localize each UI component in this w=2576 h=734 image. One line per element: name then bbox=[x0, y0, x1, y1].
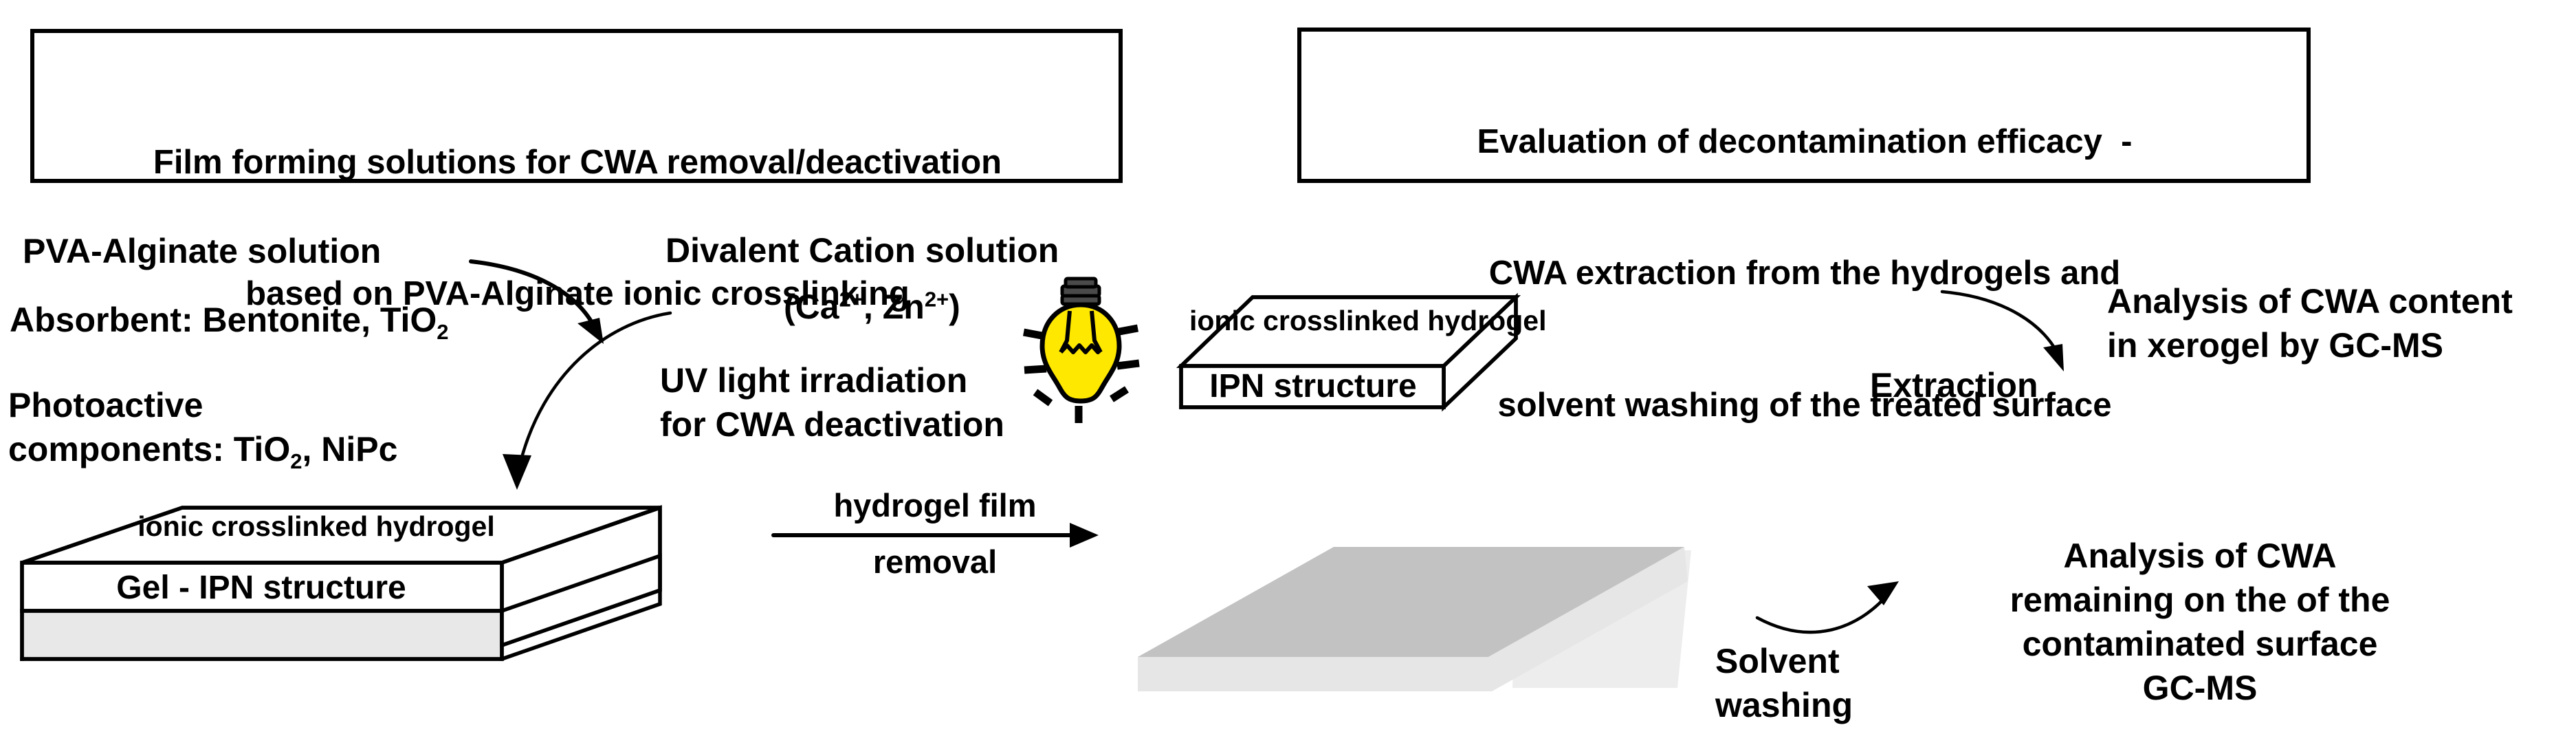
absorbent-text: Absorbent: Bentonite, TiO bbox=[10, 301, 437, 339]
photoactive-suffix: , NiPc bbox=[302, 430, 397, 468]
formula-mid: , Zn bbox=[863, 288, 925, 326]
label-uv-irradiation-line2: for CWA deactivation bbox=[660, 405, 1004, 444]
label-analysis-xerogel-line2: in xerogel by GC-MS bbox=[2107, 326, 2443, 365]
label-cation-formula: (Ca2+, Zn2+) bbox=[784, 288, 960, 327]
label-photoactive-components: components: TiO2, NiPc bbox=[8, 430, 397, 469]
formula-open: (Ca bbox=[784, 288, 839, 326]
formula-close: ) bbox=[949, 288, 960, 326]
left-slab-front-label: Gel - IPN structure bbox=[41, 570, 481, 607]
right-slab-front-label: IPN structure bbox=[1189, 368, 1437, 406]
arrow-label-removal-line1: hydrogel film bbox=[777, 487, 1093, 524]
label-solvent-washing-line1: Solvent bbox=[1715, 642, 1840, 681]
header-evaluation-text: Evaluation of decontamination efficacy -… bbox=[1313, 33, 2296, 515]
header-line: Film forming solutions for CWA removal/d… bbox=[48, 141, 1107, 185]
label-analysis-surface-line2: remaining on the of the bbox=[1928, 581, 2472, 620]
label-extraction: Extraction bbox=[1870, 366, 2038, 405]
header-line: Evaluation of decontamination efficacy - bbox=[1313, 120, 2296, 164]
formula-sup-zn: 2+ bbox=[925, 287, 949, 311]
label-pva-alginate-solution: PVA-Alginate solution bbox=[23, 232, 381, 271]
label-analysis-surface-line3: contaminated surface bbox=[1928, 625, 2472, 664]
label-uv-irradiation-line1: UV light irradiation bbox=[660, 361, 967, 400]
label-divalent-cation-solution: Divalent Cation solution bbox=[665, 231, 1059, 270]
header-film-forming-text: Film forming solutions for CWA removal/d… bbox=[48, 54, 1107, 404]
label-analysis-surface-line4: GC-MS bbox=[1928, 669, 2472, 708]
photoactive-subscript: 2 bbox=[290, 449, 302, 473]
label-analysis-xerogel-line1: Analysis of CWA content bbox=[2107, 282, 2513, 321]
label-photoactive-line1: Photoactive bbox=[8, 386, 203, 425]
absorbent-subscript: 2 bbox=[437, 320, 448, 344]
label-analysis-surface-line1: Analysis of CWA bbox=[1928, 537, 2472, 576]
photoactive-text: components: TiO bbox=[8, 430, 290, 468]
arrow-solvent-washing bbox=[1757, 581, 1899, 632]
formula-sup-ca: 2+ bbox=[839, 287, 863, 311]
label-solvent-washing-line2: washing bbox=[1715, 686, 1853, 725]
diagram-canvas: Film forming solutions for CWA removal/d… bbox=[0, 0, 2576, 734]
arrow-label-removal-line2: removal bbox=[777, 543, 1093, 581]
header-line: solvent washing of the treated surface bbox=[1313, 384, 2296, 428]
contaminated-surface-plate bbox=[1138, 547, 1691, 691]
label-absorbent: Absorbent: Bentonite, TiO2 bbox=[10, 301, 449, 340]
left-slab-top-label: ionic crosslinked hydrogel bbox=[103, 510, 529, 543]
right-slab-top-label: ionic crosslinked hydrogel bbox=[1189, 305, 1437, 337]
